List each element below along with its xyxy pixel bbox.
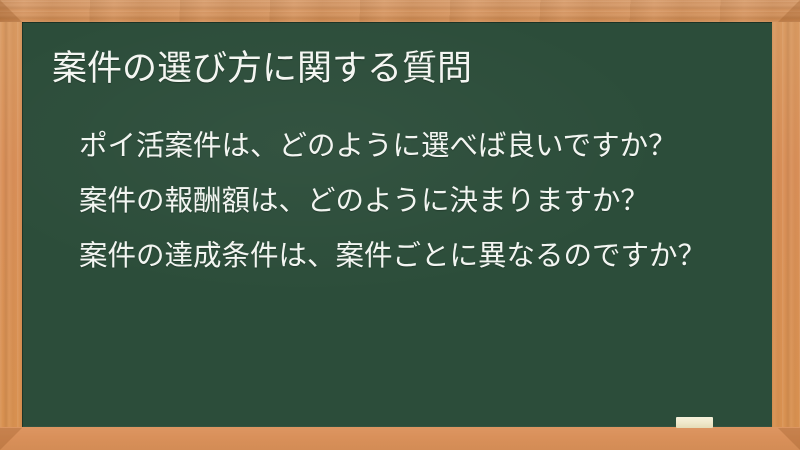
board-title: 案件の選び方に関する質問 (52, 46, 472, 92)
board-question-line-3: 案件の達成条件は、案件ごとに異なるのですか？ (79, 228, 769, 283)
chalk-stick (676, 417, 713, 428)
frame-miter-bottom-left (0, 428, 22, 450)
chalkboard-surface: 案件の選び方に関する質問 ポイ活案件は、どのように選べば良いですか？ 案件の報酬… (22, 22, 772, 427)
frame-top-rail (0, 0, 800, 22)
frame-miter-top-left (0, 0, 22, 22)
frame-miter-bottom-right (778, 428, 800, 450)
frame-bottom-rail (0, 427, 800, 450)
board-question-line-1: ポイ活案件は、どのように選べば良いですか？ (79, 118, 769, 173)
board-question-list: ポイ活案件は、どのように選べば良いですか？ 案件の報酬額は、どのように決まります… (79, 118, 769, 283)
frame-miter-top-right (778, 0, 800, 22)
chalkboard-slide: 案件の選び方に関する質問 ポイ活案件は、どのように選べば良いですか？ 案件の報酬… (0, 0, 800, 450)
board-question-line-2: 案件の報酬額は、どのように決まりますか？ (79, 173, 769, 228)
